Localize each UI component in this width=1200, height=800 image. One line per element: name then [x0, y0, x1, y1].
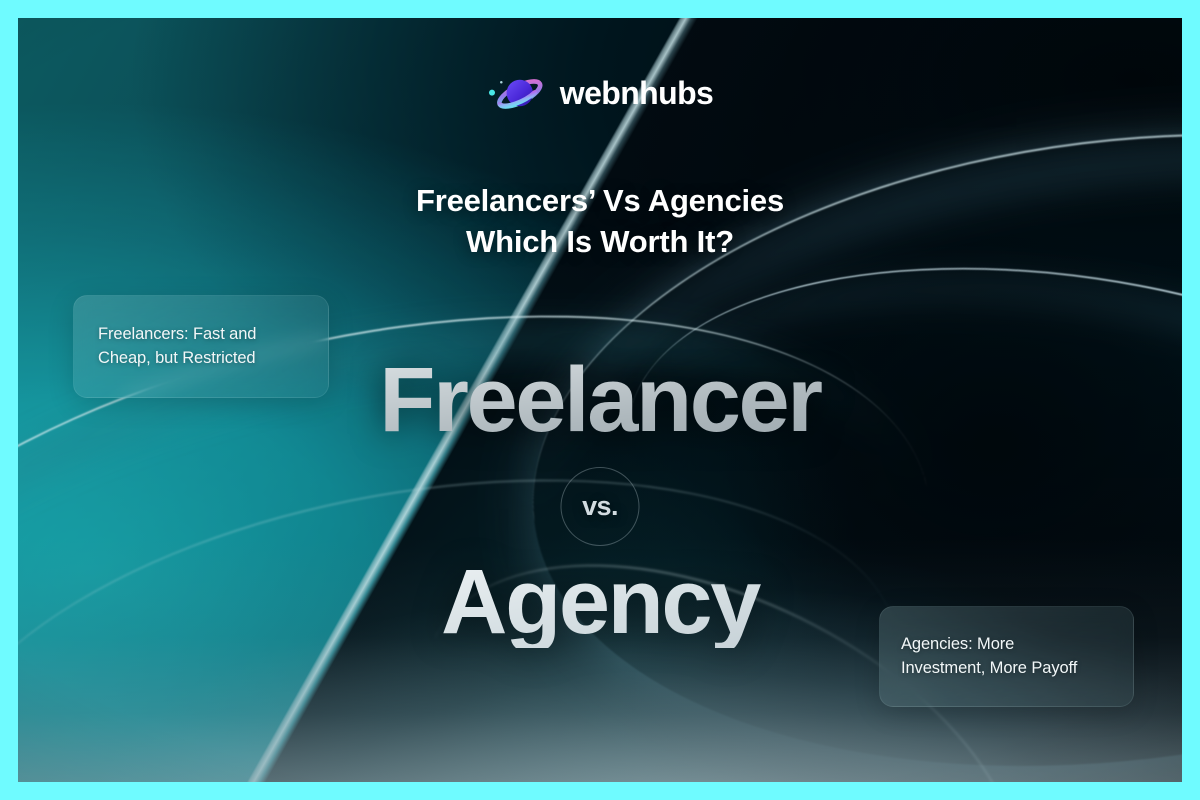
caption-freelancers-line-2: Cheap, but Restricted — [98, 349, 256, 367]
caption-card-freelancers-text: Freelancers: Fast and Cheap, but Restric… — [98, 323, 256, 371]
caption-card-agencies-text: Agencies: More Investment, More Payoff — [901, 633, 1077, 681]
headline-line-1: Freelancers’ Vs Agencies — [416, 183, 784, 218]
versus-badge: vs. — [561, 467, 640, 546]
caption-agencies-line-1: Agencies: More — [901, 635, 1014, 653]
artwork-canvas: webnhubs Freelancers’ Vs Agencies Which … — [18, 18, 1182, 782]
versus-label: vs. — [582, 491, 618, 522]
brand-logo[interactable]: webnhubs — [487, 70, 713, 116]
caption-card-agencies[interactable]: Agencies: More Investment, More Payoff — [879, 606, 1134, 707]
poster-frame: webnhubs Freelancers’ Vs Agencies Which … — [0, 0, 1200, 800]
page-title: Freelancers’ Vs Agencies Which Is Worth … — [18, 180, 1182, 262]
caption-card-freelancers[interactable]: Freelancers: Fast and Cheap, but Restric… — [73, 295, 329, 398]
poster-content: webnhubs Freelancers’ Vs Agencies Which … — [18, 18, 1182, 782]
headline-line-2: Which Is Worth It? — [18, 221, 1182, 262]
planet-ringed-icon — [487, 70, 547, 116]
caption-agencies-line-2: Investment, More Payoff — [901, 659, 1077, 677]
caption-freelancers-line-1: Freelancers: Fast and — [98, 325, 256, 343]
brand-wordmark: webnhubs — [560, 77, 713, 109]
